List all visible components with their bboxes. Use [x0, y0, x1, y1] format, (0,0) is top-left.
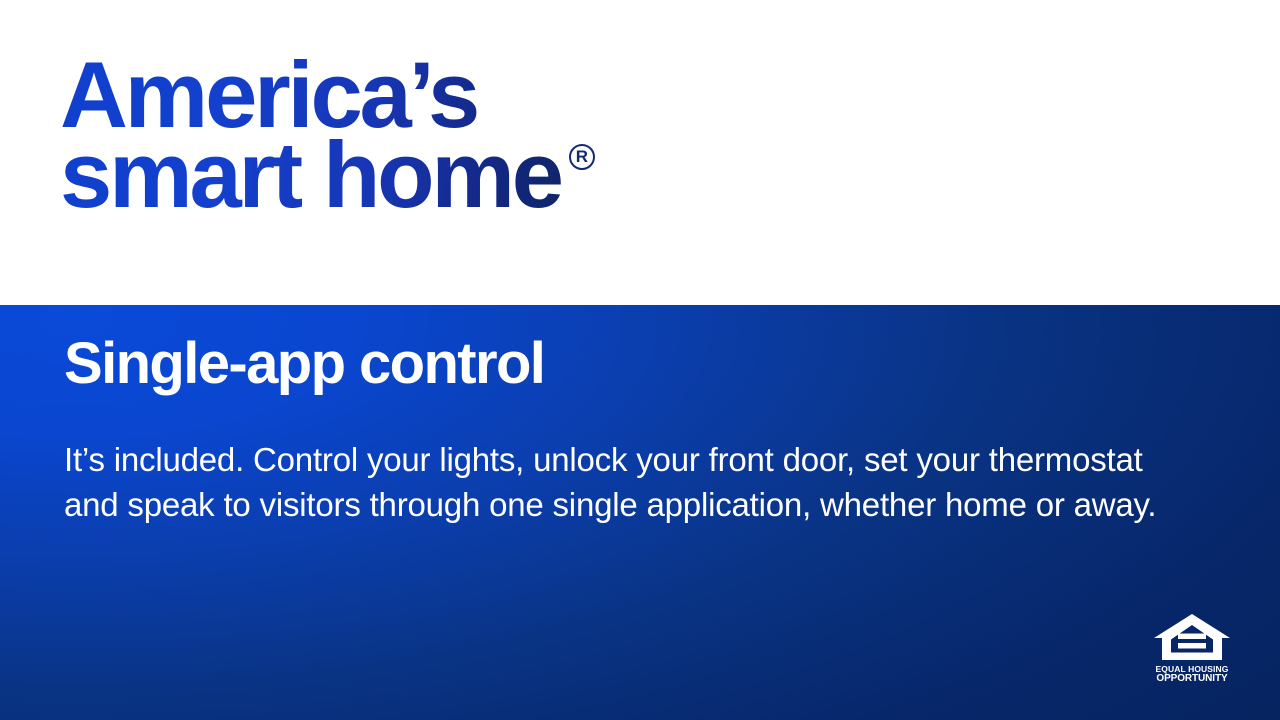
brand-line-2-wrapper: smart home R	[60, 138, 561, 218]
registered-trademark-icon: R	[569, 144, 595, 170]
equal-housing-opportunity-logo: EQUAL HOUSING OPPORTUNITY	[1152, 612, 1232, 694]
eho-caption: EQUAL HOUSING OPPORTUNITY	[1152, 664, 1232, 684]
logo-band: America’s smart home R	[0, 0, 1280, 305]
eho-caption-line2: OPPORTUNITY	[1152, 674, 1232, 684]
brand-line-smart-home: smart home	[60, 132, 561, 218]
brand-lockup: America’s smart home R	[60, 52, 561, 219]
page-title: Single-app control	[64, 333, 544, 396]
house-icon	[1152, 612, 1232, 662]
body-paragraph: It’s included. Control your lights, unlo…	[64, 437, 1194, 527]
marketing-slide: America’s smart home R Single-app contro…	[0, 0, 1280, 720]
